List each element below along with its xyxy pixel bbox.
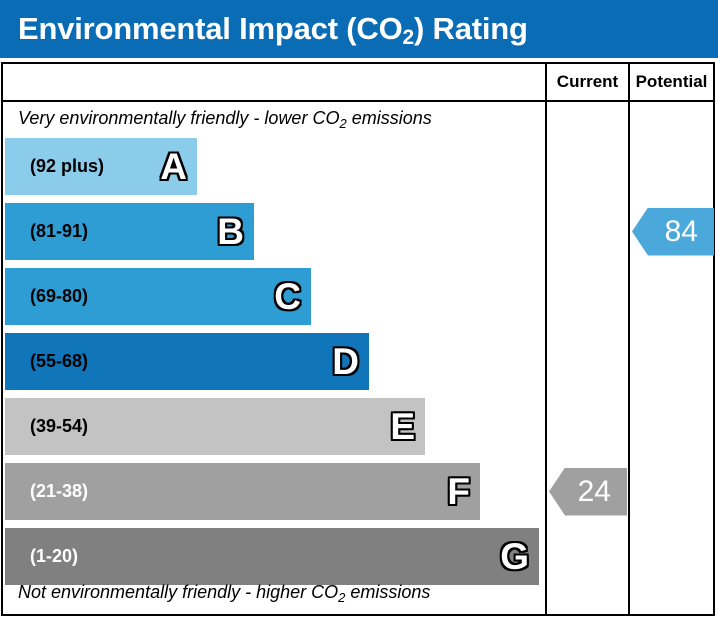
rating-table: Current Potential Very environmentally f… — [1, 62, 715, 616]
column-header-potential: Potential — [630, 64, 713, 100]
band-letter-c: C — [274, 278, 301, 315]
column-divider-potential — [628, 64, 630, 614]
column-divider-current — [545, 64, 547, 614]
note-bottom-suffix: emissions — [345, 582, 430, 602]
note-top-suffix: emissions — [347, 108, 432, 128]
band-letter-e: E — [390, 408, 415, 445]
band-letter-f: F — [447, 473, 470, 510]
band-row-e: (39-54)E — [5, 398, 425, 455]
band-row-a: (92 plus)A — [5, 138, 197, 195]
band-letter-d: D — [332, 343, 359, 380]
band-range-b: (81-91) — [30, 221, 88, 242]
title-prefix: Environmental Impact (CO — [18, 11, 403, 46]
band-range-e: (39-54) — [30, 416, 88, 437]
band-range-d: (55-68) — [30, 351, 88, 372]
band-letter-b: B — [217, 213, 244, 250]
note-not-friendly: Not environmentally friendly - higher CO… — [18, 582, 430, 603]
title-subscript: 2 — [403, 26, 414, 49]
band-range-a: (92 plus) — [30, 156, 104, 177]
band-letter-a: A — [160, 148, 187, 185]
band-row-b: (81-91)B — [5, 203, 254, 260]
rating-arrow-current: 24 — [549, 468, 627, 516]
note-very-friendly: Very environmentally friendly - lower CO… — [18, 108, 432, 129]
band-range-c: (69-80) — [30, 286, 88, 307]
band-row-g: (1-20)G — [5, 528, 539, 585]
bands-area: Very environmentally friendly - lower CO… — [3, 102, 545, 616]
note-bottom-prefix: Not environmentally friendly - higher CO — [18, 582, 338, 602]
column-header-current: Current — [547, 64, 628, 100]
band-range-g: (1-20) — [30, 546, 78, 567]
epc-environmental-impact-chart: Environmental Impact (CO2) Rating Curren… — [0, 0, 718, 619]
chart-title-bar: Environmental Impact (CO2) Rating — [0, 0, 718, 58]
rating-value-current: 24 — [578, 477, 611, 507]
rating-arrow-potential: 84 — [632, 208, 714, 256]
note-top-subscript: 2 — [339, 116, 346, 131]
band-range-f: (21-38) — [30, 481, 88, 502]
note-bottom-subscript: 2 — [338, 590, 345, 605]
title-suffix: ) Rating — [414, 11, 528, 46]
rating-value-potential: 84 — [665, 217, 698, 247]
band-row-d: (55-68)D — [5, 333, 369, 390]
band-row-c: (69-80)C — [5, 268, 311, 325]
note-top-prefix: Very environmentally friendly - lower CO — [18, 108, 339, 128]
band-letter-g: G — [500, 538, 529, 575]
band-row-f: (21-38)F — [5, 463, 480, 520]
page-title: Environmental Impact (CO2) Rating — [18, 11, 528, 47]
